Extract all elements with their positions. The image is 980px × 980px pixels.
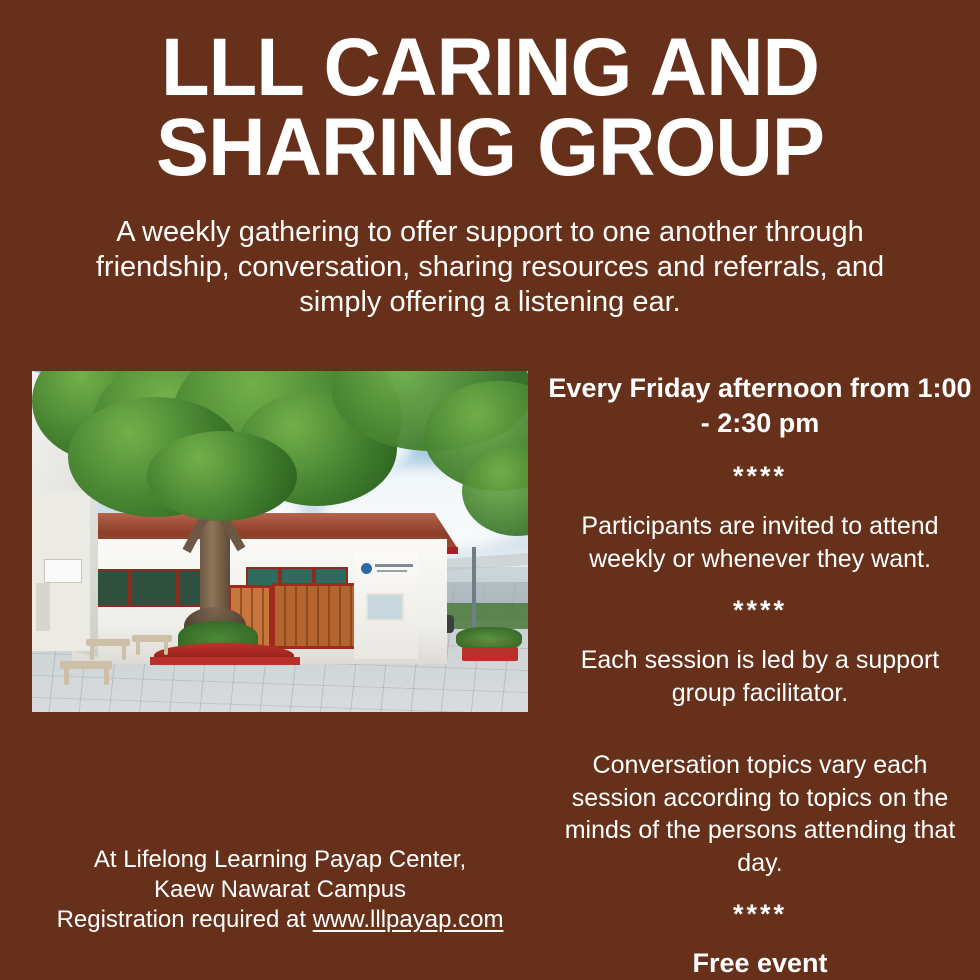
photo-picnic-table-leg (136, 641, 140, 655)
details-column: Every Friday afternoon from 1:00 - 2:30 … (548, 371, 972, 979)
photo-picnic-table-leg (122, 645, 126, 660)
photo-bench (462, 647, 518, 661)
footer-line-1: At Lifelong Learning Payap Center, (12, 845, 548, 875)
separator-asterisks: **** (548, 901, 972, 928)
photo-red-curb (150, 657, 300, 665)
separator-asterisks: **** (548, 597, 972, 624)
poster-subtitle: A weekly gathering to offer support to o… (95, 215, 885, 321)
footer-line-2: Kaew Nawarat Campus (12, 875, 548, 905)
footer-line-3: Registration required at www.lllpayap.co… (12, 905, 548, 935)
left-column: READ MORE & REGISTER (32, 371, 528, 712)
photo-sign-text (375, 564, 413, 567)
detail-paragraph-attendance: Participants are invited to attend weekl… (548, 510, 972, 575)
photo-tree-canopy (147, 431, 297, 521)
poster-canvas: LLL CARING AND SHARING GROUP A weekly ga… (0, 0, 980, 980)
detail-paragraph-facilitator: Each session is led by a support group f… (548, 644, 972, 709)
registration-prefix: Registration required at (57, 906, 313, 933)
separator-asterisks: **** (548, 463, 972, 490)
photo-door (272, 583, 358, 649)
detail-paragraph-topics: Conversation topics vary each session ac… (548, 749, 972, 879)
venue-photo (32, 371, 528, 712)
page-title: LLL CARING AND SHARING GROUP (15, 28, 966, 189)
registration-url-link[interactable]: www.lllpayap.com (313, 906, 504, 933)
photo-picnic-table-leg (64, 667, 69, 685)
photo-center-logo (361, 563, 372, 574)
poster-header: LLL CARING AND SHARING GROUP A weekly ga… (0, 28, 980, 321)
photo-picnic-table-leg (164, 641, 168, 655)
photo-window (130, 569, 178, 607)
photo-picnic-table-leg (104, 667, 109, 685)
schedule-heading: Every Friday afternoon from 1:00 - 2:30 … (548, 371, 972, 441)
venue-footer: At Lifelong Learning Payap Center, Kaew … (12, 845, 548, 936)
photo-wall-post (36, 583, 50, 631)
free-event-label: Free event (548, 948, 972, 979)
spacer (548, 709, 972, 749)
photo-sign-subtext (377, 570, 407, 572)
photo-window (366, 593, 404, 621)
photo-lamp-post (472, 547, 476, 633)
photo-picnic-table-leg (90, 645, 94, 660)
photo-wall-sign (44, 559, 82, 583)
